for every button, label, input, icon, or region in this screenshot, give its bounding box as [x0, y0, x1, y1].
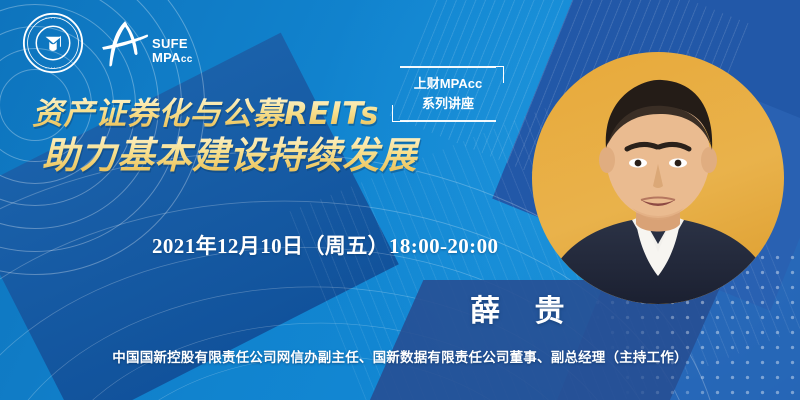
title-line-2: 助力基本建设持续发展 — [42, 133, 502, 178]
badge-top-rule — [400, 66, 496, 68]
mpacc-swoosh-icon — [98, 17, 150, 69]
sufe-label: SUFE — [152, 37, 193, 51]
lecture-poster: • • • • • • • • • • • • SUFE MPAcc — [0, 0, 800, 400]
schedule-text: 2021年12月10日（周五）18:00-20:00 — [152, 230, 498, 260]
title-line-1: 资产证券化与公募REITs — [32, 96, 502, 133]
sufe-university-seal-icon: • • • • • • • • • • • • — [22, 12, 84, 74]
svg-text:• • • • • •: • • • • • • — [45, 16, 61, 20]
mpacc-label: MPAcc — [152, 51, 193, 66]
svg-text:• • • • • •: • • • • • • — [45, 67, 61, 71]
sufe-mpacc-wordmark: SUFE MPAcc — [152, 37, 193, 69]
logo-group: • • • • • • • • • • • • SUFE MPAcc — [22, 12, 193, 74]
poster-title: 资产证券化与公募REITs 助力基本建设持续发展 — [32, 96, 502, 178]
speaker-title-caption: 中国国新控股有限责任公司网信办副主任、国新数据有限责任公司董事、副总经理（主持工… — [0, 346, 800, 366]
speaker-name: 薛 贵 — [470, 286, 576, 330]
sufe-mpacc-logo: SUFE MPAcc — [98, 17, 193, 69]
speaker-portrait-photo — [532, 52, 784, 304]
bracket-top-right-icon — [487, 66, 504, 83]
